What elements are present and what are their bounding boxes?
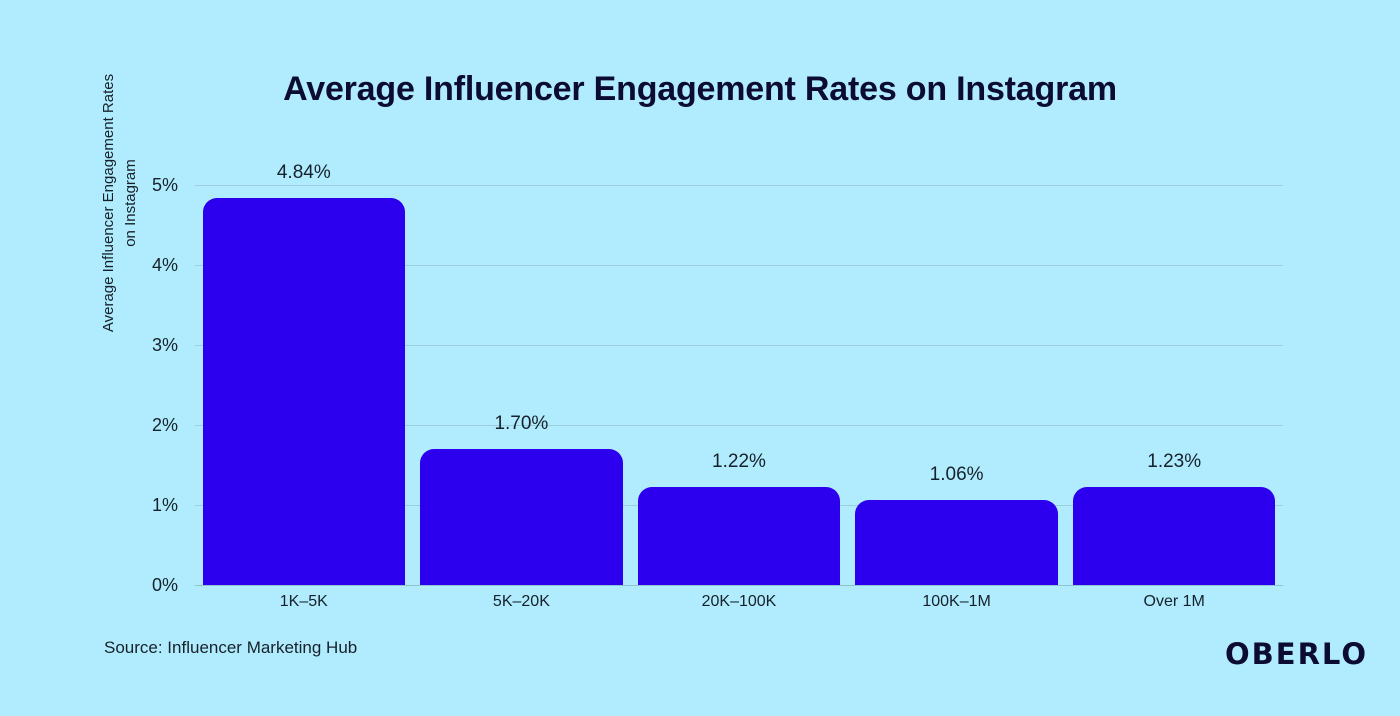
bar[interactable]: [203, 198, 406, 585]
chart-title: Average Influencer Engagement Rates on I…: [0, 70, 1400, 109]
bar-value-label: 1.22%: [638, 451, 841, 473]
bar-slot: [638, 185, 841, 585]
x-axis-label: Over 1M: [1065, 593, 1283, 611]
x-axis-label: 20K–100K: [630, 593, 848, 611]
chart-container: Average Influencer Engagement Rates on I…: [0, 0, 1400, 716]
x-axis-label: 100K–1M: [848, 593, 1066, 611]
y-tick-label: 1%: [118, 496, 178, 514]
source-note: Source: Influencer Marketing Hub: [104, 638, 357, 658]
bar-value-label: 1.23%: [1073, 451, 1276, 473]
bar-value-label: 4.84%: [203, 162, 406, 184]
bars-layer: 4.84%1.70%1.22%1.06%1.23%: [195, 185, 1283, 585]
gridline-0%: [195, 585, 1283, 586]
x-axis-label: 5K–20K: [413, 593, 631, 611]
bar[interactable]: [420, 449, 623, 585]
x-axis-label: 1K–5K: [195, 593, 413, 611]
y-tick-label: 2%: [118, 416, 178, 434]
bar-slot: [420, 185, 623, 585]
x-axis-category-labels: 1K–5K5K–20K20K–100K100K–1MOver 1M: [195, 593, 1283, 619]
y-axis-title-line-2: on Instagram: [120, 159, 143, 247]
bar-value-label: 1.06%: [855, 464, 1058, 486]
bar-slot: [203, 185, 406, 585]
bar[interactable]: [1073, 487, 1276, 585]
bar-slot: [1073, 185, 1276, 585]
bar[interactable]: [855, 500, 1058, 585]
y-tick-label: 0%: [118, 576, 178, 594]
bar-slot: [855, 185, 1058, 585]
y-axis-title: Average Influencer Engagement Rates on I…: [92, 0, 148, 408]
y-axis-title-line-1: Average Influencer Engagement Rates: [98, 74, 121, 332]
bar-value-label: 1.70%: [420, 413, 623, 435]
bar[interactable]: [638, 487, 841, 585]
oberlo-logo: OBERLO: [1225, 637, 1368, 671]
